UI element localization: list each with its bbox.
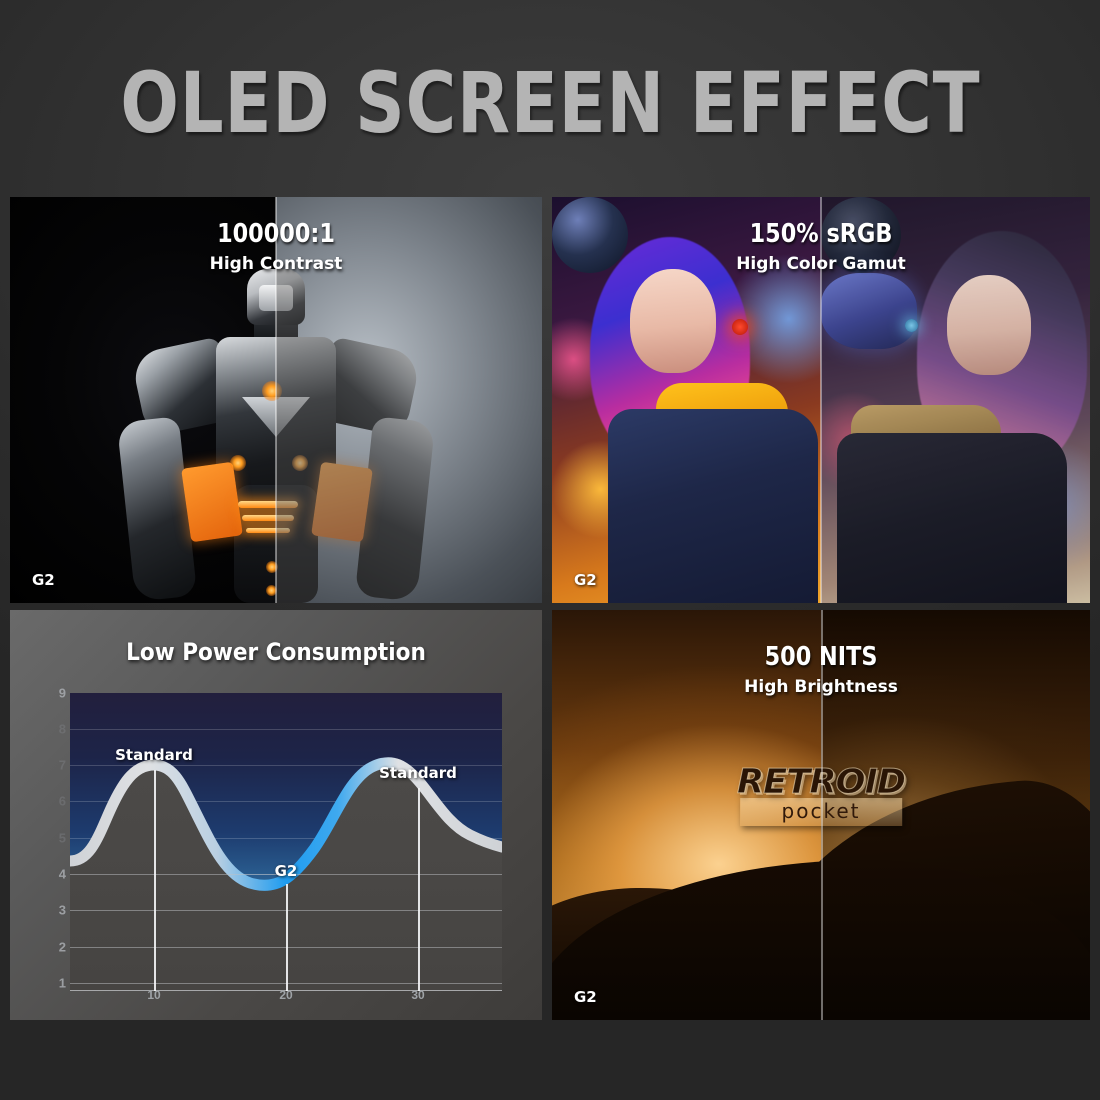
contrast-g2-tag: G2 xyxy=(32,571,55,589)
page-title: OLED SCREEN EFFECT xyxy=(120,54,980,152)
mech-half-lcd xyxy=(276,269,486,603)
portrait-left xyxy=(552,197,821,603)
chart-title: Low Power Consumption xyxy=(37,638,516,666)
brightness-g2-tag: G2 xyxy=(574,988,597,1006)
y-tick-8: 8 xyxy=(59,722,66,737)
y-tick-3: 3 xyxy=(59,903,66,918)
y-tick-5: 5 xyxy=(59,831,66,846)
chart-marker-standard-2 xyxy=(418,788,420,991)
panel-low-power: Low Power Consumption xyxy=(10,610,542,1020)
gamut-g2-tag: G2 xyxy=(574,571,597,589)
mech-half-oled xyxy=(66,269,276,603)
chart-y-axis: 9 8 7 6 5 4 3 2 1 xyxy=(32,678,66,998)
y-tick-6: 6 xyxy=(59,794,66,809)
portrait-right xyxy=(821,197,1090,603)
chart-marker-g2 xyxy=(286,884,288,991)
y-tick-4: 4 xyxy=(59,867,66,882)
gamut-half-lcd xyxy=(821,197,1090,603)
panel-high-contrast: 100000:1 High Contrast G2 xyxy=(10,197,542,603)
panel-high-brightness: RETROID pocket 500 NITS High Brightness … xyxy=(552,610,1090,1020)
chart-marker-standard-1 xyxy=(154,770,156,991)
y-tick-7: 7 xyxy=(59,758,66,773)
page-header: OLED SCREEN EFFECT xyxy=(0,48,1100,158)
chart-label-standard-2: Standard xyxy=(379,764,457,782)
chart-label-standard-1: Standard xyxy=(115,746,193,764)
gamut-half-oled xyxy=(552,197,821,603)
mech-illustration xyxy=(66,269,486,603)
y-tick-1: 1 xyxy=(59,976,66,991)
panel-color-gamut: 150% sRGB High Color Gamut G2 xyxy=(552,197,1090,603)
y-tick-9: 9 xyxy=(59,686,66,701)
chart-label-g2: G2 xyxy=(275,862,298,880)
y-tick-2: 2 xyxy=(59,940,66,955)
